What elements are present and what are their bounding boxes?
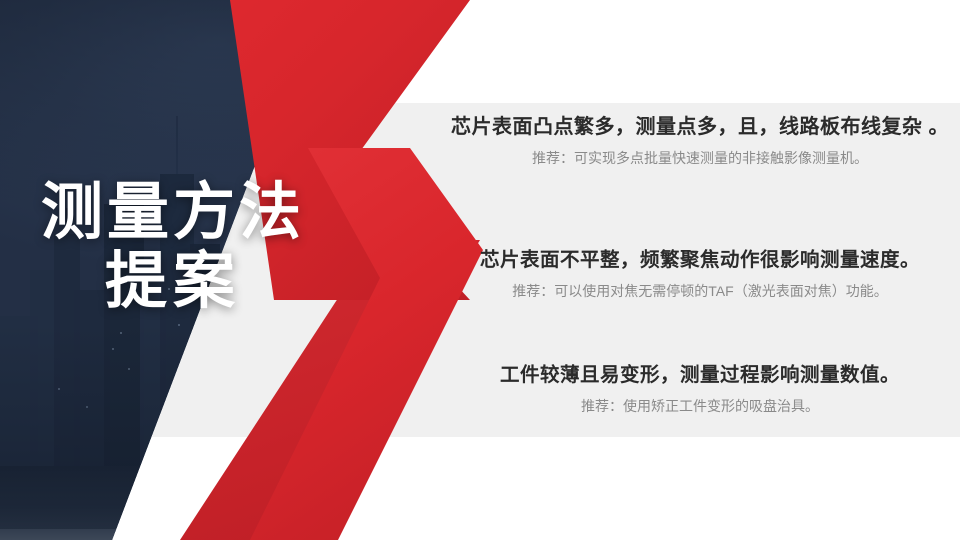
slide-title-line-1: 测量方法 xyxy=(18,178,328,247)
block-recommendation: 推荐：可以使用对焦无需停顿的TAF（激光表面对焦）功能。 xyxy=(440,281,960,301)
slide-title: 测量方法 提案 xyxy=(18,178,328,317)
content-block: 芯片表面凸点繁多，测量点多，且，线路板布线复杂 。 推荐：可实现多点批量快速测量… xyxy=(440,110,960,168)
block-recommendation: 推荐：使用矫正工件变形的吸盘治具。 xyxy=(440,396,960,416)
block-heading: 芯片表面凸点繁多，测量点多，且，线路板布线复杂 。 xyxy=(440,110,960,139)
content-block: 芯片表面不平整，频繁聚焦动作很影响测量速度。 推荐：可以使用对焦无需停顿的TAF… xyxy=(440,243,960,301)
block-heading: 工件较薄且易变形，测量过程影响测量数值。 xyxy=(440,358,960,387)
content-block-list: 芯片表面凸点繁多，测量点多，且，线路板布线复杂 。 推荐：可实现多点批量快速测量… xyxy=(440,0,960,540)
slide-title-line-2: 提案 xyxy=(18,247,328,316)
block-heading: 芯片表面不平整，频繁聚焦动作很影响测量速度。 xyxy=(440,243,960,272)
block-recommendation: 推荐：可实现多点批量快速测量的非接触影像测量机。 xyxy=(440,148,960,168)
content-block: 工件较薄且易变形，测量过程影响测量数值。 推荐：使用矫正工件变形的吸盘治具。 xyxy=(440,358,960,416)
slide-canvas: 测量方法 提案 芯片表面凸点繁多，测量点多，且，线路板布线复杂 。 推荐：可实现… xyxy=(0,0,960,540)
